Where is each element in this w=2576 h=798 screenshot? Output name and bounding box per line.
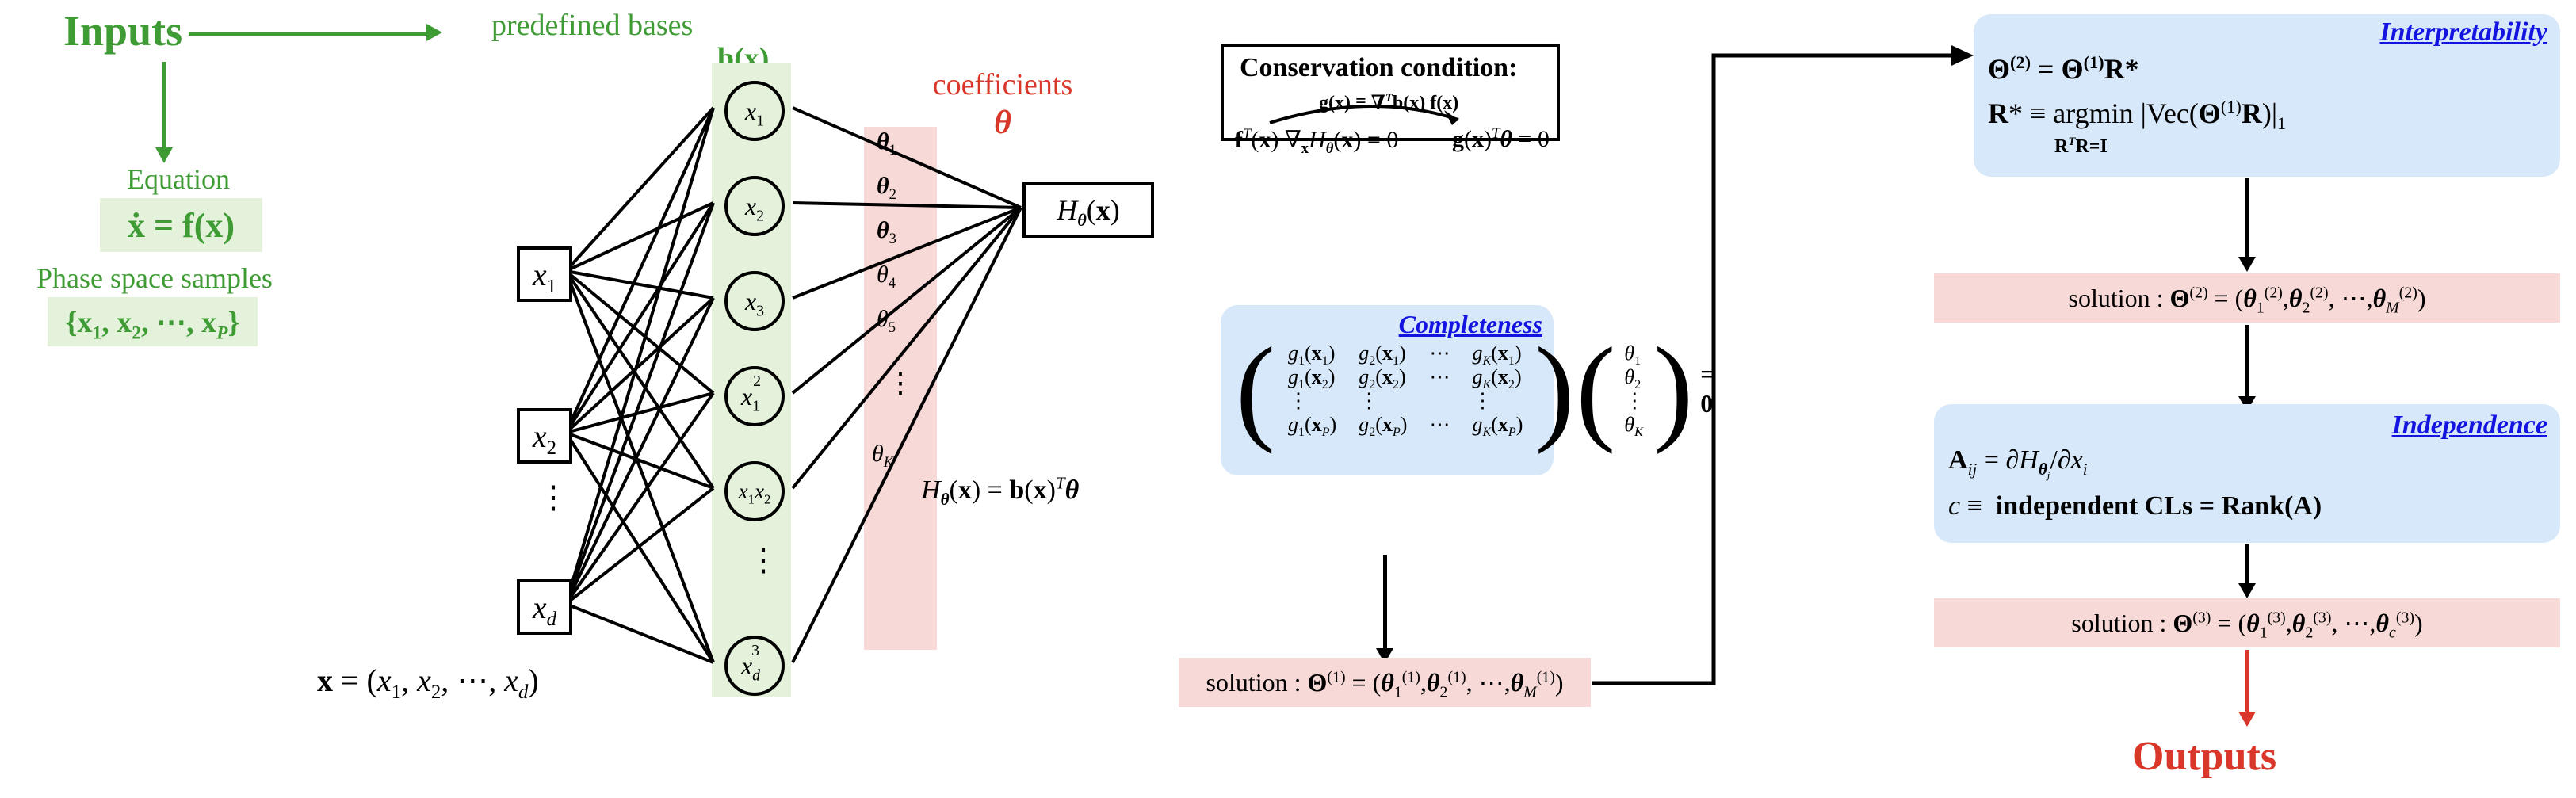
- theta-label-K: θK: [872, 441, 893, 468]
- independence-box: Independence Aij = ∂Hθj/∂xi c ≡ independ…: [1934, 404, 2560, 543]
- coefficients-label: coefficients θ: [912, 67, 1094, 142]
- matrix-cell: g1(x1): [1277, 342, 1347, 365]
- theta-label-4: θ4: [877, 262, 896, 288]
- basis-node-5-label: x1x2: [739, 479, 771, 504]
- arrow-independence-to-solution3-head: [2238, 583, 2256, 598]
- matrix-cell: g1(xP): [1277, 413, 1347, 437]
- matrix-cell: g2(xP): [1347, 413, 1418, 437]
- matrix-cell: ⋯: [1418, 365, 1461, 389]
- theta-label-2: θ2: [877, 173, 896, 200]
- arrow-interpretability-to-solution2: [2245, 178, 2249, 257]
- independence-line-1: Aij = ∂Hθj/∂xi: [1948, 445, 2088, 475]
- matrix-cell: gK(xP): [1461, 413, 1534, 437]
- input-node-xd: xd: [517, 579, 572, 635]
- matrix-cell: [1418, 389, 1461, 413]
- basis-node-2: x2: [724, 176, 785, 236]
- input-node-x2-label: x2: [533, 418, 556, 455]
- matrix-cell: g1(x2): [1277, 365, 1347, 389]
- interpretability-constraint: RTR=I: [2054, 136, 2108, 158]
- basis-node-6: xd3: [724, 636, 785, 696]
- basis-node-1-label: x1: [745, 97, 764, 126]
- matrix-cell: ⋮: [1277, 389, 1347, 413]
- diagram-canvas: Inputs predefined bases b(x) Equation ẋ …: [0, 0, 2576, 798]
- completeness-title: Completeness: [1399, 310, 1542, 339]
- matrix-cell: gK(x1): [1461, 342, 1534, 365]
- interpretability-line-1: Θ(2) = Θ(1)R*: [1988, 52, 2139, 86]
- matrix-cell: ⋮: [1347, 389, 1418, 413]
- basis-node-3-label: x3: [745, 287, 764, 316]
- x-vector-definition: x = (x1, x2, ⋯, xd): [317, 662, 539, 699]
- theta-label-5: θ5: [877, 306, 896, 333]
- basis-node-6-label: xd3: [741, 651, 768, 681]
- basis-node-3: x3: [724, 271, 785, 331]
- solution-1-text: solution : Θ(1) = (θ1(1),θ2(1), ⋯,θM(1)): [1206, 667, 1564, 697]
- arrow-independence-to-solution3: [2245, 544, 2249, 583]
- arrow-solution3-to-outputs-head: [2238, 712, 2256, 727]
- conservation-condition-box: Conservation condition: g(x) ≡ ∇Tb(x) f(…: [1221, 44, 1560, 141]
- input-node-x2: x2: [517, 408, 572, 464]
- hamiltonian-output-label: Hθ(x): [1057, 193, 1120, 227]
- theta-label-3: θ3: [877, 217, 896, 244]
- hamiltonian-formula: Hθ(x) = b(x)Tθ: [921, 475, 1079, 506]
- coefficients-label-text: coefficients: [912, 67, 1094, 102]
- input-node-x1: x1: [517, 246, 572, 302]
- independence-line-2: c ≡ independent CLs = Rank(A): [1948, 491, 2322, 521]
- independence-title: Independence: [2392, 410, 2547, 441]
- solution-2-text: solution : Θ(2) = (θ1(2),θ2(2), ⋯,θM(2)): [2069, 283, 2426, 313]
- matrix-cell: ⋮: [1461, 389, 1534, 413]
- interpretability-line-2: R* ≡ argmin |Vec(Θ(1)R)|1: [1988, 97, 2286, 130]
- input-nodes-vertical-dots: ⋮: [537, 486, 569, 510]
- input-node-xd-label: xd: [533, 589, 556, 626]
- matrix-right-paren: ): [1534, 342, 1575, 437]
- matrix-cell: g2(x2): [1347, 365, 1418, 389]
- arrow-solution2-to-independence: [2245, 325, 2249, 396]
- matrix-cell: gK(x2): [1461, 365, 1534, 389]
- solution-1-box: solution : Θ(1) = (θ1(1),θ2(1), ⋯,θM(1)): [1179, 658, 1591, 707]
- solution-2-box: solution : Θ(2) = (θ1(2),θ2(2), ⋯,θM(2)): [1934, 273, 2560, 323]
- outputs-label: Outputs: [2132, 733, 2276, 780]
- arrow-solution3-to-outputs: [2245, 650, 2249, 712]
- basis-node-1: x1: [724, 81, 785, 141]
- basis-node-4: x12: [724, 366, 785, 426]
- basis-node-4-label: x12: [741, 382, 768, 411]
- arrow-completeness-to-solution1: [1383, 555, 1387, 648]
- input-node-x1-label: x1: [533, 256, 556, 293]
- arrow-interpretability-to-solution2-head: [2238, 257, 2256, 272]
- hamiltonian-output-box: Hθ(x): [1022, 182, 1154, 238]
- interpretability-title: Interpretability: [2379, 17, 2547, 48]
- matrix-cell: ⋯: [1418, 413, 1461, 437]
- matrix-cell: g2(x1): [1347, 342, 1418, 365]
- theta-labels-vertical-dots: ⋮: [886, 372, 915, 394]
- basis-node-2-label: x2: [745, 192, 764, 221]
- matrix-left-paren: (: [1235, 342, 1277, 437]
- basis-node-5: x1x2: [724, 461, 785, 521]
- conservation-curved-arrow: [1224, 47, 1557, 138]
- theta-label-1: θ1: [877, 128, 896, 155]
- basis-nodes-vertical-dots: ⋮: [747, 548, 779, 572]
- coefficients-symbol: θ: [912, 104, 1094, 142]
- solution-3-text: solution : Θ(3) = (θ1(3),θ2(3), ⋯,θc(3)): [2071, 608, 2422, 638]
- solution-3-box: solution : Θ(3) = (θ1(3),θ2(3), ⋯,θc(3)): [1934, 598, 2560, 647]
- interpretability-box: Interpretability Θ(2) = Θ(1)R* R* ≡ argm…: [1974, 14, 2560, 177]
- completeness-box: Completeness ( g1(x1) g2(x1) ⋯ gK(x1) ) …: [1221, 305, 1554, 475]
- matrix-cell: ⋯: [1418, 342, 1461, 365]
